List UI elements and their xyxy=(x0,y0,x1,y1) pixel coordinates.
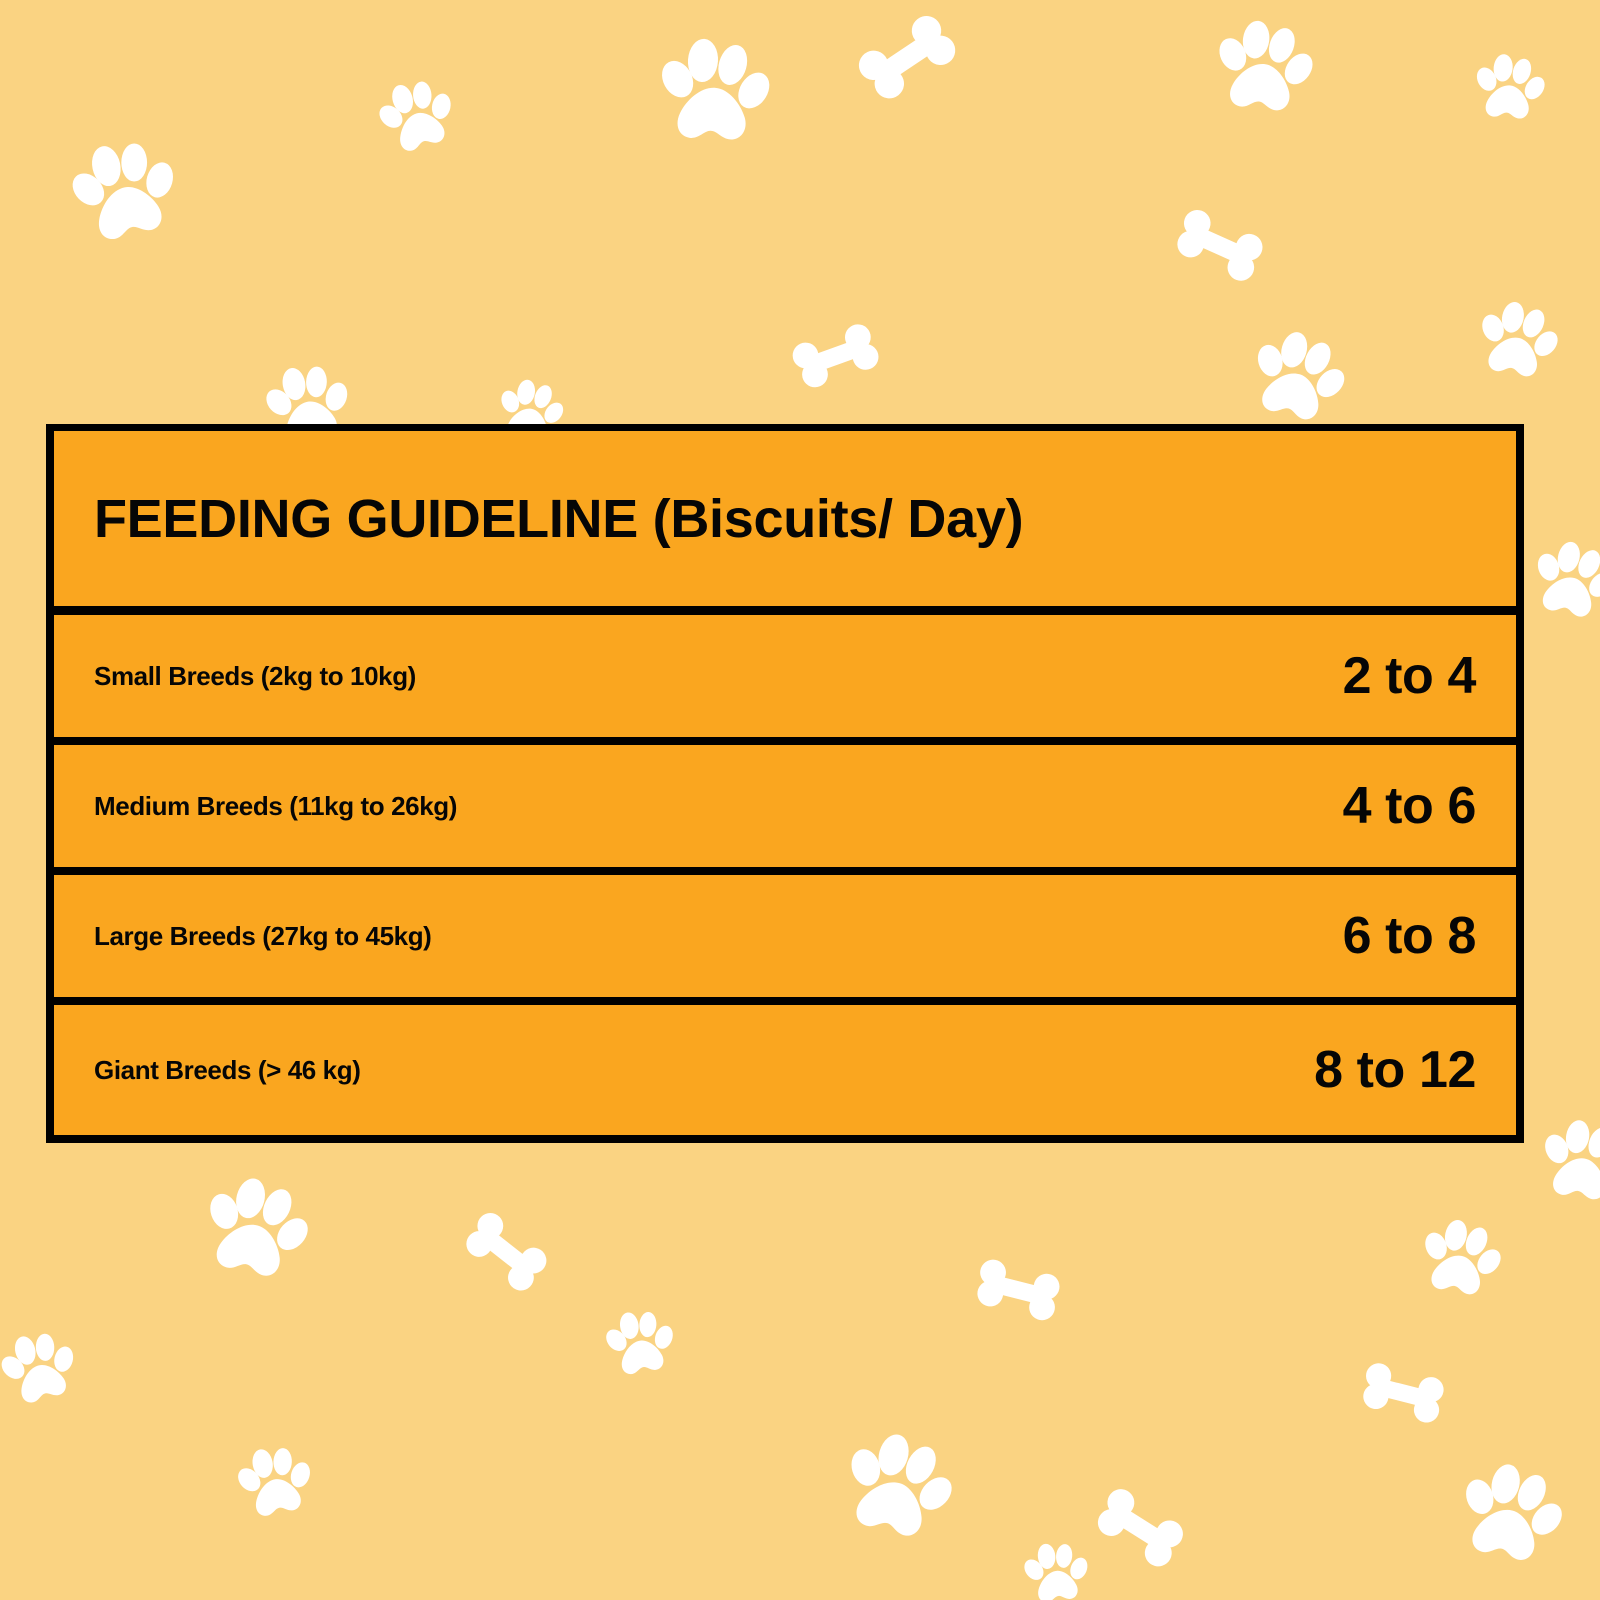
breed-label: Large Breeds (27kg to 45kg) xyxy=(94,923,1343,949)
table-header-row: FEEDING GUIDELINE (Biscuits/ Day) xyxy=(54,431,1516,615)
table-title: FEEDING GUIDELINE (Biscuits/ Day) xyxy=(94,492,1023,546)
biscuit-amount: 4 to 6 xyxy=(1343,780,1480,832)
breed-label: Giant Breeds (> 46 kg) xyxy=(94,1057,1314,1083)
biscuit-amount: 8 to 12 xyxy=(1314,1044,1480,1096)
biscuit-amount: 2 to 4 xyxy=(1343,650,1480,702)
table-row: Large Breeds (27kg to 45kg) 6 to 8 xyxy=(54,875,1516,1005)
table-row: Giant Breeds (> 46 kg) 8 to 12 xyxy=(54,1005,1516,1135)
breed-label: Small Breeds (2kg to 10kg) xyxy=(94,663,1343,689)
breed-label: Medium Breeds (11kg to 26kg) xyxy=(94,793,1343,819)
feeding-guideline-table: FEEDING GUIDELINE (Biscuits/ Day) Small … xyxy=(46,424,1524,1143)
biscuit-amount: 6 to 8 xyxy=(1343,910,1480,962)
table-row: Small Breeds (2kg to 10kg) 2 to 4 xyxy=(54,615,1516,745)
table-row: Medium Breeds (11kg to 26kg) 4 to 6 xyxy=(54,745,1516,875)
